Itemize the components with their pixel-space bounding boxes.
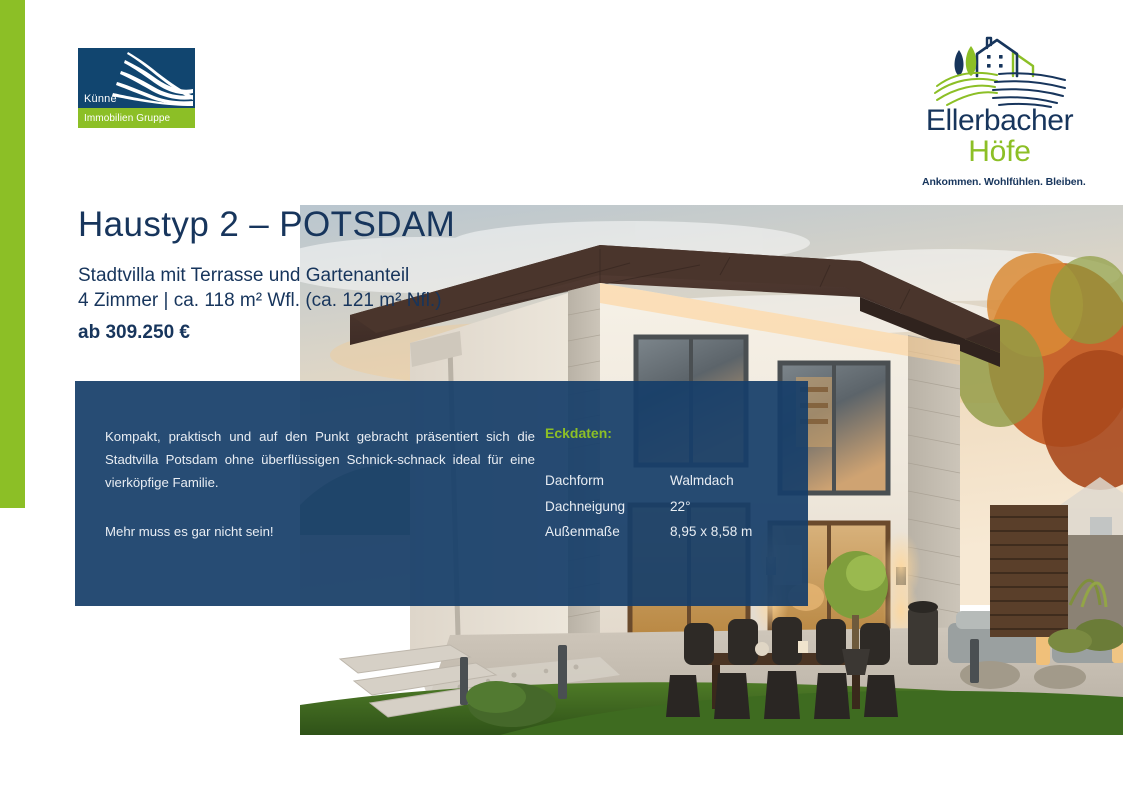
- page-title: Haustyp 2 – POTSDAM: [78, 206, 455, 245]
- specs-table: Dachform Walmdach Dachneigung 22° Außenm…: [545, 471, 752, 548]
- kuenne-logo-subtitle: Immobilien Gruppe: [78, 113, 170, 124]
- spec-value-dachneigung: 22°: [670, 497, 752, 523]
- price-label: ab 309.250 €: [78, 320, 455, 346]
- specs-section: Eckdaten: Dachform Walmdach Dachneigung …: [545, 381, 752, 606]
- ellerbacher-wordmark-primary: Ellerbacher: [922, 106, 1077, 136]
- spec-label-dachneigung: Dachneigung: [545, 497, 670, 523]
- table-row: Dachneigung 22°: [545, 497, 752, 523]
- spec-value-dachform: Walmdach: [670, 471, 752, 497]
- kuenne-logo-mark: Künne: [78, 48, 195, 108]
- table-row: Außenmaße 8,95 x 8,58 m: [545, 522, 752, 548]
- specs-title: Eckdaten:: [545, 425, 752, 441]
- spec-label-dachform: Dachform: [545, 471, 670, 497]
- kuenne-logo-name: Künne: [84, 93, 117, 105]
- ellerbacher-hoefe-logo: Ellerbacher Höfe Ankommen. Wohlfühlen. B…: [922, 36, 1077, 178]
- headline-block: Haustyp 2 – POTSDAM Stadtvilla mit Terra…: [78, 206, 455, 345]
- farmhouse-fields-icon: [925, 36, 1075, 108]
- spec-value-aussenmasse: 8,95 x 8,58 m: [670, 522, 752, 548]
- kuenne-logo: Künne Immobilien Gruppe: [78, 48, 195, 128]
- subtitle-description: Stadtvilla mit Terrasse und Gartenanteil: [78, 263, 455, 289]
- description-paragraph-1: Kompakt, praktisch und auf den Punkt geb…: [105, 425, 535, 494]
- subtitle-rooms-area: 4 Zimmer | ca. 118 m² Wfl. (ca. 121 m² N…: [78, 288, 455, 314]
- info-panel: Kompakt, praktisch und auf den Punkt geb…: [75, 381, 808, 606]
- info-panel-description: Kompakt, praktisch und auf den Punkt geb…: [75, 381, 545, 606]
- building-stripes-icon: [109, 50, 195, 108]
- left-accent-bar: [0, 0, 25, 508]
- description-paragraph-2: Mehr muss es gar nicht sein!: [105, 520, 545, 543]
- kuenne-logo-subtitle-bar: Immobilien Gruppe: [78, 108, 195, 128]
- brochure-page: Künne Immobilien Gruppe: [0, 0, 1123, 794]
- ellerbacher-tagline: Ankommen. Wohlfühlen. Bleiben.: [922, 176, 1077, 188]
- table-row: Dachform Walmdach: [545, 471, 752, 497]
- ellerbacher-wordmark-secondary: Höfe: [922, 136, 1077, 168]
- spec-label-aussenmasse: Außenmaße: [545, 522, 670, 548]
